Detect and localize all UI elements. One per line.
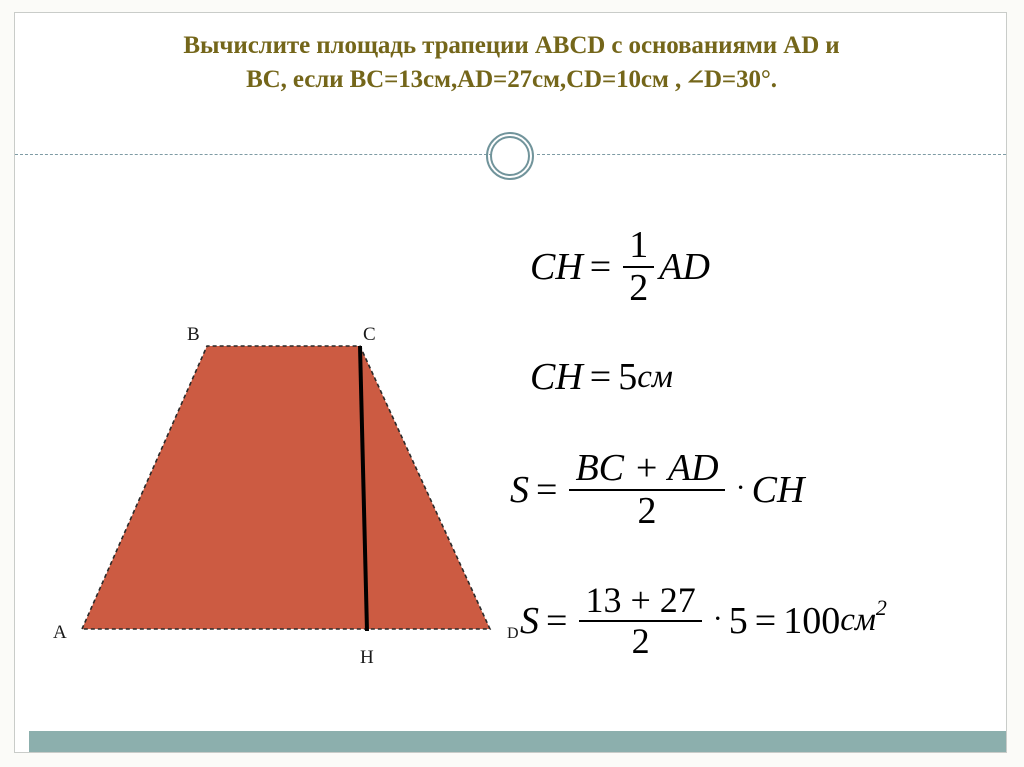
eq1-lhs: CH bbox=[530, 248, 583, 286]
eq4-lhs: S bbox=[520, 602, 539, 640]
eq3-rhs: CH bbox=[752, 471, 805, 509]
eq1-denominator: 2 bbox=[623, 268, 654, 309]
eq4-numerator: 13 + 27 bbox=[579, 581, 701, 620]
eq3-fraction: BC + AD 2 bbox=[569, 448, 724, 532]
title-line-1: Вычислите площадь трапеции ABCD с основа… bbox=[45, 29, 978, 63]
vertex-label-a: A bbox=[53, 623, 67, 642]
eq1-rhs: AD bbox=[659, 248, 710, 286]
eq1-equals: = bbox=[590, 248, 611, 286]
eq4-result: 100 bbox=[783, 602, 840, 640]
eq4-fraction: 13 + 27 2 bbox=[579, 581, 701, 660]
eq4-equals-2: = bbox=[755, 602, 776, 640]
eq2-equals: = bbox=[590, 358, 611, 396]
eq4-multiply-dot: · bbox=[713, 604, 723, 634]
trapezoid-svg bbox=[15, 293, 535, 693]
eq2-lhs: CH bbox=[530, 358, 583, 396]
divider-ring-inner-icon bbox=[490, 136, 530, 176]
slide-frame: Вычислите площадь трапеции ABCD с основа… bbox=[14, 12, 1007, 753]
equation-ch-half-ad: CH = 1 2 AD bbox=[530, 225, 710, 309]
title-line-2-suffix: D=30°. bbox=[704, 66, 777, 93]
eq3-numerator: BC + AD bbox=[569, 448, 724, 489]
eq2-value: 5 bbox=[618, 358, 637, 396]
eq4-equals: = bbox=[546, 602, 567, 640]
eq2-unit: см bbox=[637, 361, 673, 394]
eq1-fraction: 1 2 bbox=[623, 225, 654, 309]
page-title: Вычислите площадь трапеции ABCD с основа… bbox=[45, 29, 978, 96]
divider bbox=[15, 127, 1006, 183]
vertex-label-b: B bbox=[187, 325, 200, 344]
eq3-denominator: 2 bbox=[632, 491, 663, 532]
bottom-accent-bar bbox=[29, 731, 1007, 753]
trapezoid-shape bbox=[82, 346, 490, 629]
vertex-label-h: H bbox=[360, 648, 374, 667]
eq4-unit: см bbox=[840, 604, 876, 637]
geometry-figure: A B C H bbox=[15, 293, 535, 693]
formula-list: CH = 1 2 AD CH = 5 см S = bbox=[510, 203, 1007, 703]
vertex-label-c: C bbox=[363, 325, 376, 344]
eq3-equals: = bbox=[536, 471, 557, 509]
divider-dashed-line-right bbox=[537, 154, 1006, 155]
eq4-factor: 5 bbox=[729, 602, 748, 640]
eq1-numerator: 1 bbox=[623, 225, 654, 266]
eq3-lhs: S bbox=[510, 471, 529, 509]
angle-symbol-icon: ∠ bbox=[685, 65, 706, 92]
slide-root: Вычислите площадь трапеции ABCD с основа… bbox=[0, 0, 1024, 767]
divider-dashed-line-left bbox=[15, 154, 497, 155]
equation-area-general: S = BC + AD 2 · CH bbox=[510, 448, 804, 532]
eq4-denominator: 2 bbox=[626, 622, 656, 661]
title-line-2-prefix: BC, если BC=13см,AD=27см,CD=10см , bbox=[246, 66, 687, 93]
eq3-multiply-dot: · bbox=[736, 473, 746, 503]
title-line-2: BC, если BC=13см,AD=27см,CD=10см , ∠D=30… bbox=[45, 63, 978, 97]
equation-area-numeric: S = 13 + 27 2 · 5 = 100 см 2 bbox=[520, 581, 887, 660]
equation-ch-value: CH = 5 см bbox=[530, 358, 673, 396]
